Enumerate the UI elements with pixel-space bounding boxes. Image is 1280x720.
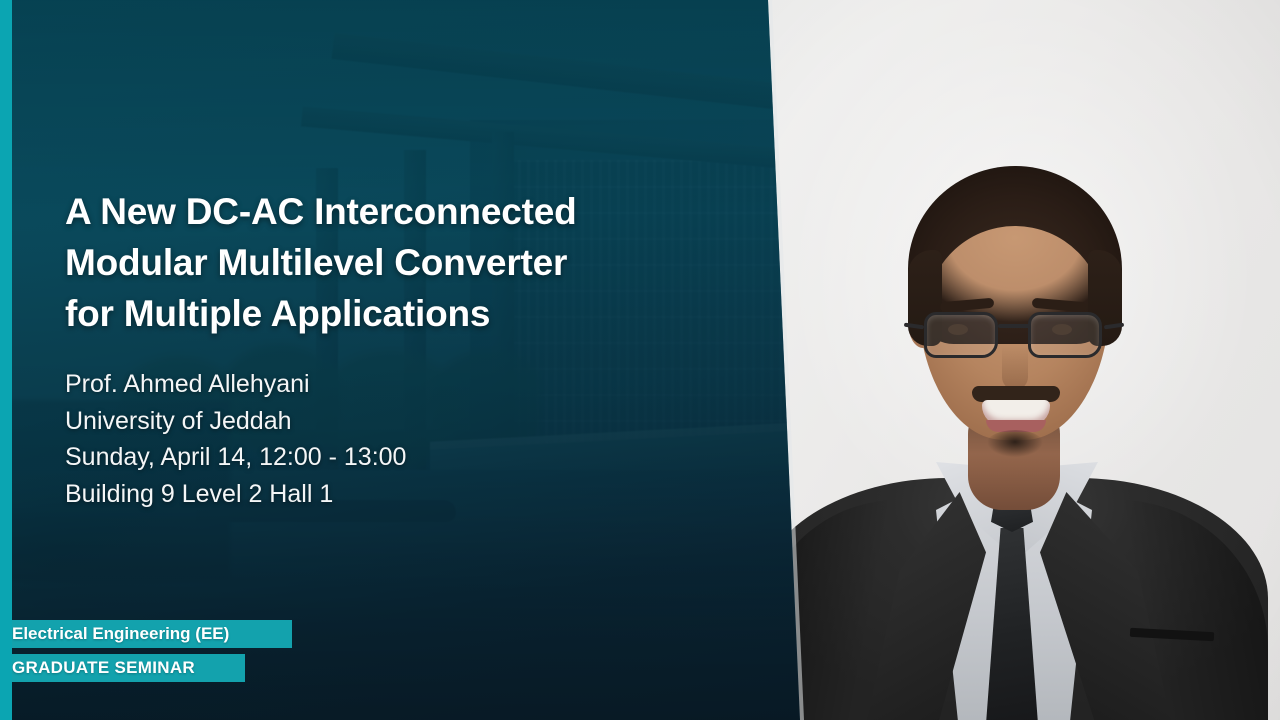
title-line-1: A New DC-AC Interconnected	[65, 186, 765, 237]
event-type-badge: GRADUATE SEMINAR	[0, 654, 245, 682]
speaker-portrait-photo	[740, 0, 1280, 720]
speaker-affiliation: University of Jeddah	[65, 403, 715, 440]
teal-content-panel: A New DC-AC Interconnected Modular Multi…	[0, 0, 801, 720]
title-line-3: for Multiple Applications	[65, 288, 765, 339]
speaker-name: Prof. Ahmed Allehyani	[65, 366, 715, 403]
panel-vignette	[0, 0, 801, 720]
speaker-figure	[740, 0, 1280, 720]
seminar-announcement-slide: A New DC-AC Interconnected Modular Multi…	[0, 0, 1280, 720]
seminar-datetime: Sunday, April 14, 12:00 - 13:00	[65, 439, 715, 476]
title-line-2: Modular Multilevel Converter	[65, 237, 765, 288]
left-accent-stripe	[0, 0, 12, 720]
seminar-title: A New DC-AC Interconnected Modular Multi…	[65, 186, 765, 339]
seminar-venue: Building 9 Level 2 Hall 1	[65, 476, 715, 513]
department-badge: Electrical Engineering (EE)	[0, 620, 292, 648]
seminar-details: Prof. Ahmed Allehyani University of Jedd…	[65, 366, 715, 512]
nose	[1002, 346, 1028, 390]
chin-beard	[984, 430, 1046, 464]
eyeglass-bridge	[998, 324, 1030, 328]
eyeglass-lens-left	[924, 312, 998, 358]
eyeglass-lens-right	[1028, 312, 1102, 358]
